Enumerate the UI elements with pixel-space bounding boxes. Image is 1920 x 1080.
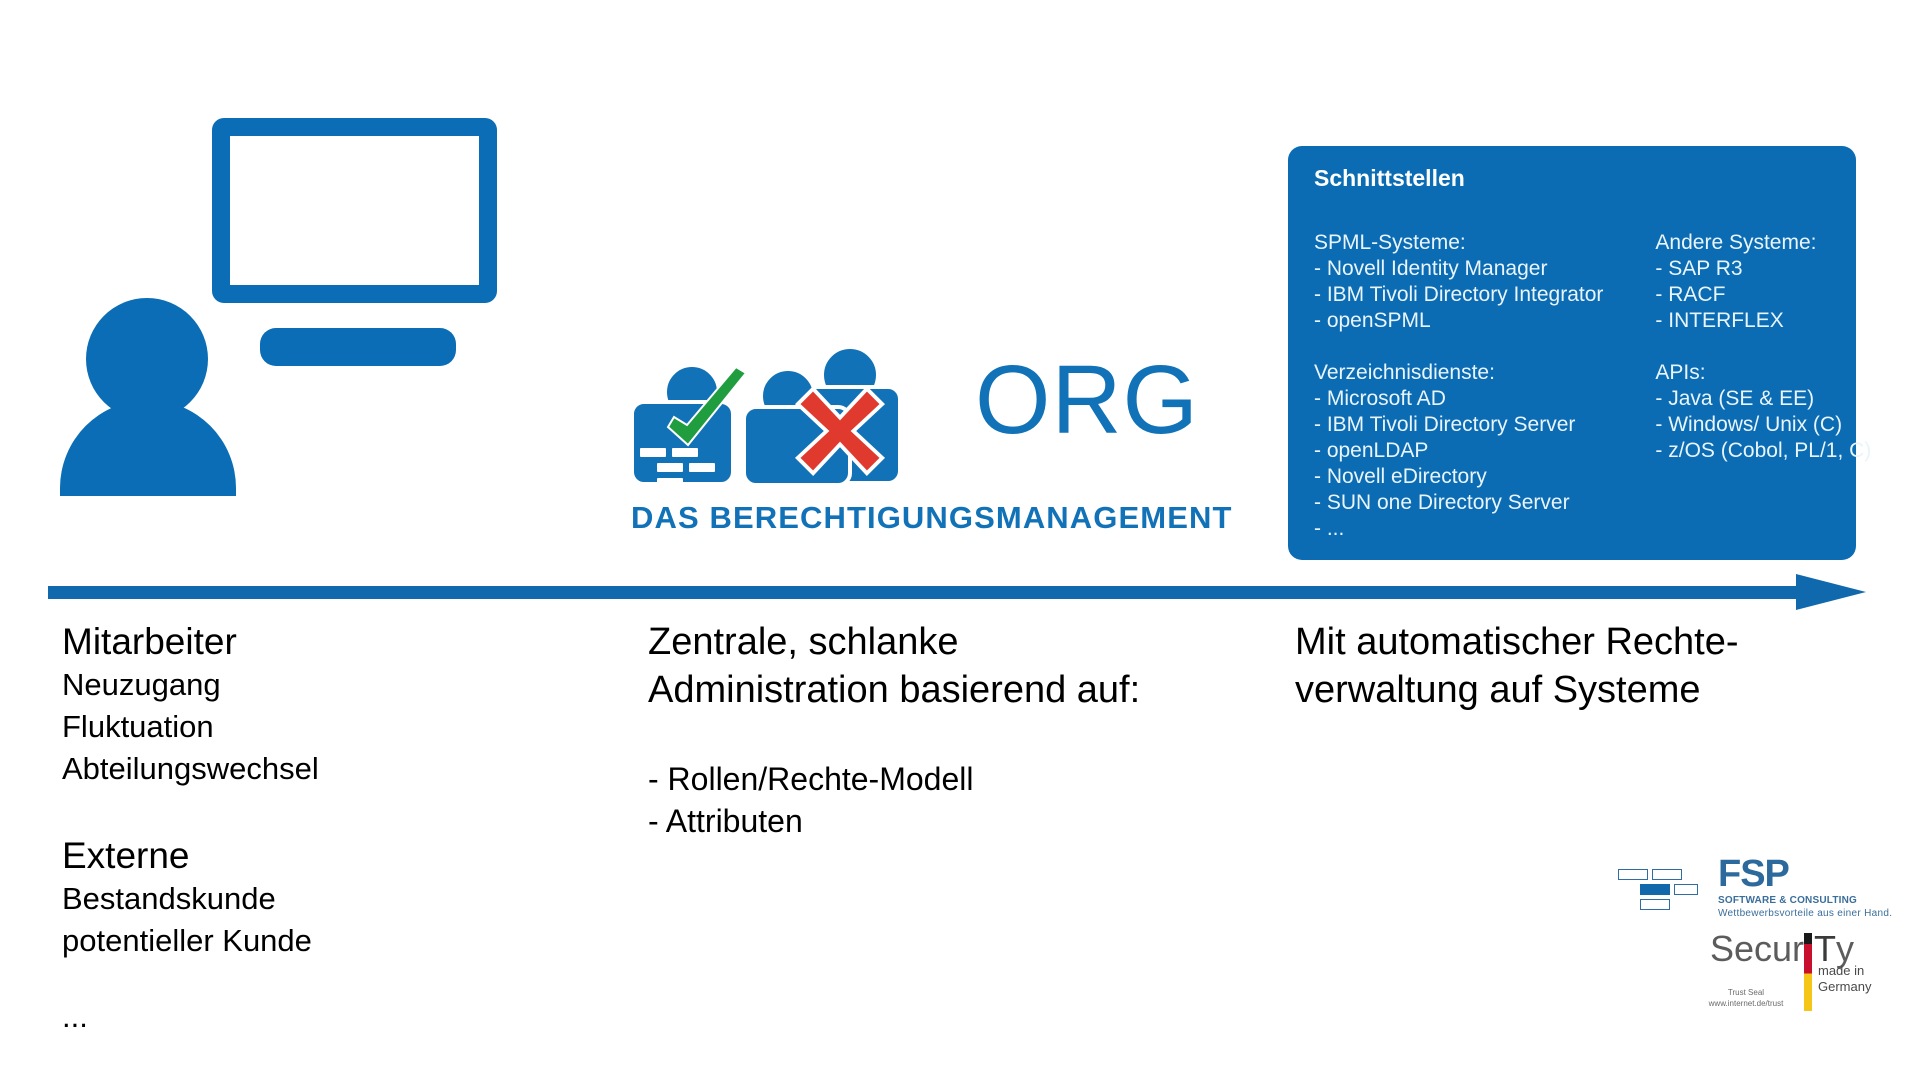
german-flag-icon [1804, 933, 1812, 1011]
list-item: - z/OS (Cobol, PL/1, C) [1655, 438, 1865, 464]
spacer [62, 962, 532, 996]
interfaces-right-column: Andere Systeme: - SAP R3 - RACF - INTERF… [1655, 230, 1865, 542]
arrow-head [1796, 574, 1866, 610]
interfaces-panel-title: Schnittstellen [1314, 165, 1465, 192]
list-item: - Novell eDirectory [1314, 464, 1603, 490]
org-logo-figures: ORG [630, 345, 1190, 495]
list-item: - SAP R3 [1655, 256, 1865, 282]
list-item: - ... [1314, 516, 1603, 542]
list-item: - Java (SE & EE) [1655, 386, 1865, 412]
trust-seal-label: Trust Seal www.internet.de/trust [1696, 987, 1796, 1009]
fsp-subtitle-1: SOFTWARE & CONSULTING [1718, 895, 1857, 906]
card-bar-5 [657, 478, 683, 487]
group-heading: Verzeichnisdienste: [1314, 360, 1603, 386]
left-group1-line: Neuzugang [62, 664, 532, 706]
left-group1-line: Fluktuation [62, 706, 532, 748]
org-tagline: DAS BERECHTIGUNGSMANAGEMENT [631, 500, 1233, 536]
left-group2-line: Bestandskunde [62, 878, 532, 920]
list-item: - INTERFLEX [1655, 308, 1865, 334]
slide-canvas: ORG DAS BERECHTIGUNGSMANAGEMENT Schnitts… [0, 0, 1920, 1080]
interfaces-group: Andere Systeme: - SAP R3 - RACF - INTERF… [1655, 230, 1865, 334]
interfaces-group: APIs: - Java (SE & EE) - Windows/ Unix (… [1655, 360, 1865, 464]
fsp-wordmark: FSP [1718, 855, 1789, 893]
interfaces-panel: Schnittstellen SPML-Systeme: - Novell Id… [1288, 146, 1856, 560]
left-group1-title: Mitarbeiter [62, 620, 532, 664]
middle-bullet: - Attributen [648, 800, 1188, 842]
column-left-text: Mitarbeiter Neuzugang Fluktuation Abteil… [62, 620, 532, 1038]
security-prefix: Secur [1710, 928, 1804, 969]
right-heading: Mit automatischer Rechte-verwaltung auf … [1295, 618, 1855, 714]
security-wordmark: SecurITy [1710, 931, 1854, 967]
middle-heading: Zentrale, schlanke Administration basier… [648, 618, 1188, 714]
interfaces-group: SPML-Systeme: - Novell Identity Manager … [1314, 230, 1603, 334]
left-group1-line: Abteilungswechsel [62, 748, 532, 790]
list-item: - IBM Tivoli Directory Integrator [1314, 282, 1603, 308]
card-bar-3 [657, 463, 683, 472]
monitor-base-icon [260, 328, 456, 366]
list-item: - IBM Tivoli Directory Server [1314, 412, 1603, 438]
org-wordmark: ORG [975, 351, 1199, 448]
group-heading: Andere Systeme: [1655, 230, 1865, 256]
column-right-text: Mit automatischer Rechte-verwaltung auf … [1295, 618, 1855, 714]
list-item: - Microsoft AD [1314, 386, 1603, 412]
spacer [62, 790, 532, 834]
trust-seal-title: Trust Seal [1696, 987, 1796, 998]
fsp-logo: FSP SOFTWARE & CONSULTING Wettbewerbsvor… [1618, 855, 1868, 1020]
person-body-icon [60, 400, 236, 496]
column-middle-text: Zentrale, schlanke Administration basier… [648, 618, 1188, 842]
fsp-mark-icon [1618, 865, 1698, 915]
card-bar-4 [689, 463, 715, 472]
list-item: - openSPML [1314, 308, 1603, 334]
spacer [648, 714, 1188, 758]
left-group2-title: Externe [62, 834, 532, 878]
arrow-shaft [48, 586, 1803, 599]
red-cross-icon [792, 383, 888, 479]
left-group2-line: potentieller Kunde [62, 920, 532, 962]
green-check-icon [658, 367, 754, 463]
list-item: - Novell Identity Manager [1314, 256, 1603, 282]
fsp-subtitle-2: Wettbewerbsvorteile aus einer Hand. [1718, 908, 1892, 919]
group-heading: SPML-Systeme: [1314, 230, 1603, 256]
trust-seal-url: www.internet.de/trust [1696, 998, 1796, 1009]
interfaces-columns: SPML-Systeme: - Novell Identity Manager … [1314, 230, 1840, 542]
list-item: - SUN one Directory Server [1314, 490, 1603, 516]
list-item: - openLDAP [1314, 438, 1603, 464]
list-item: - RACF [1655, 282, 1865, 308]
group-heading: APIs: [1655, 360, 1865, 386]
org-logo: ORG DAS BERECHTIGUNGSMANAGEMENT [630, 345, 1190, 575]
list-item: - Windows/ Unix (C) [1655, 412, 1865, 438]
interfaces-group: Verzeichnisdienste: - Microsoft AD - IBM… [1314, 360, 1603, 542]
right-arrow-icon [48, 574, 1870, 610]
middle-bullet: - Rollen/Rechte-Modell [648, 758, 1188, 800]
interfaces-left-column: SPML-Systeme: - Novell Identity Manager … [1314, 230, 1603, 542]
monitor-screen-icon [212, 118, 497, 303]
made-in-germany-label: made in Germany [1818, 963, 1871, 995]
user-at-computer-icon [60, 100, 580, 570]
left-ellipsis: ... [62, 996, 532, 1038]
